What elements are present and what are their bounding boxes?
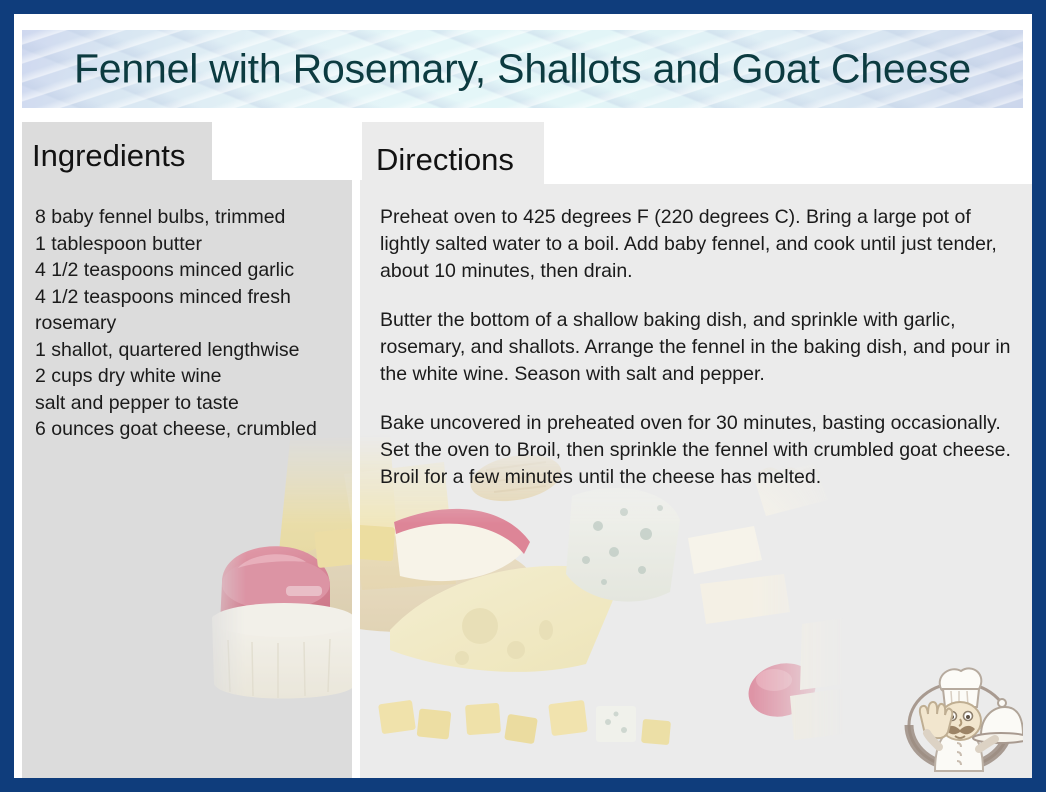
list-item: 2 cups dry white wine — [35, 363, 355, 390]
list-item: rosemary — [35, 310, 355, 337]
page-title: Fennel with Rosemary, Shallots and Goat … — [22, 47, 1023, 90]
list-item: 8 baby fennel bulbs, trimmed — [35, 204, 355, 231]
chef-mascot-logo — [895, 659, 1023, 778]
list-item: 1 tablespoon butter — [35, 231, 355, 258]
directions-paragraph: Bake uncovered in preheated oven for 30 … — [380, 410, 1026, 491]
directions-tab-notch — [544, 122, 1032, 184]
title-banner: Fennel with Rosemary, Shallots and Goat … — [22, 30, 1023, 108]
list-item: 1 shallot, quartered lengthwise — [35, 337, 355, 364]
section-heading-directions: Directions — [366, 138, 544, 184]
ingredients-tab-notch — [212, 122, 362, 180]
directions-paragraph: Butter the bottom of a shallow baking di… — [380, 307, 1026, 388]
list-item: salt and pepper to taste — [35, 390, 355, 417]
directions-paragraph: Preheat oven to 425 degrees F (220 degre… — [380, 204, 1026, 285]
list-item: 4 1/2 teaspoons minced fresh — [35, 284, 355, 311]
directions-text: Preheat oven to 425 degrees F (220 degre… — [380, 204, 1026, 491]
recipe-slide: Fennel with Rosemary, Shallots and Goat … — [0, 0, 1046, 792]
list-item: 4 1/2 teaspoons minced garlic — [35, 257, 355, 284]
ingredients-list: 8 baby fennel bulbs, trimmed 1 tablespoo… — [35, 204, 355, 443]
slide-canvas: Fennel with Rosemary, Shallots and Goat … — [14, 14, 1032, 778]
section-heading-ingredients: Ingredients — [22, 134, 212, 180]
list-item: 6 ounces goat cheese, crumbled — [35, 416, 355, 443]
